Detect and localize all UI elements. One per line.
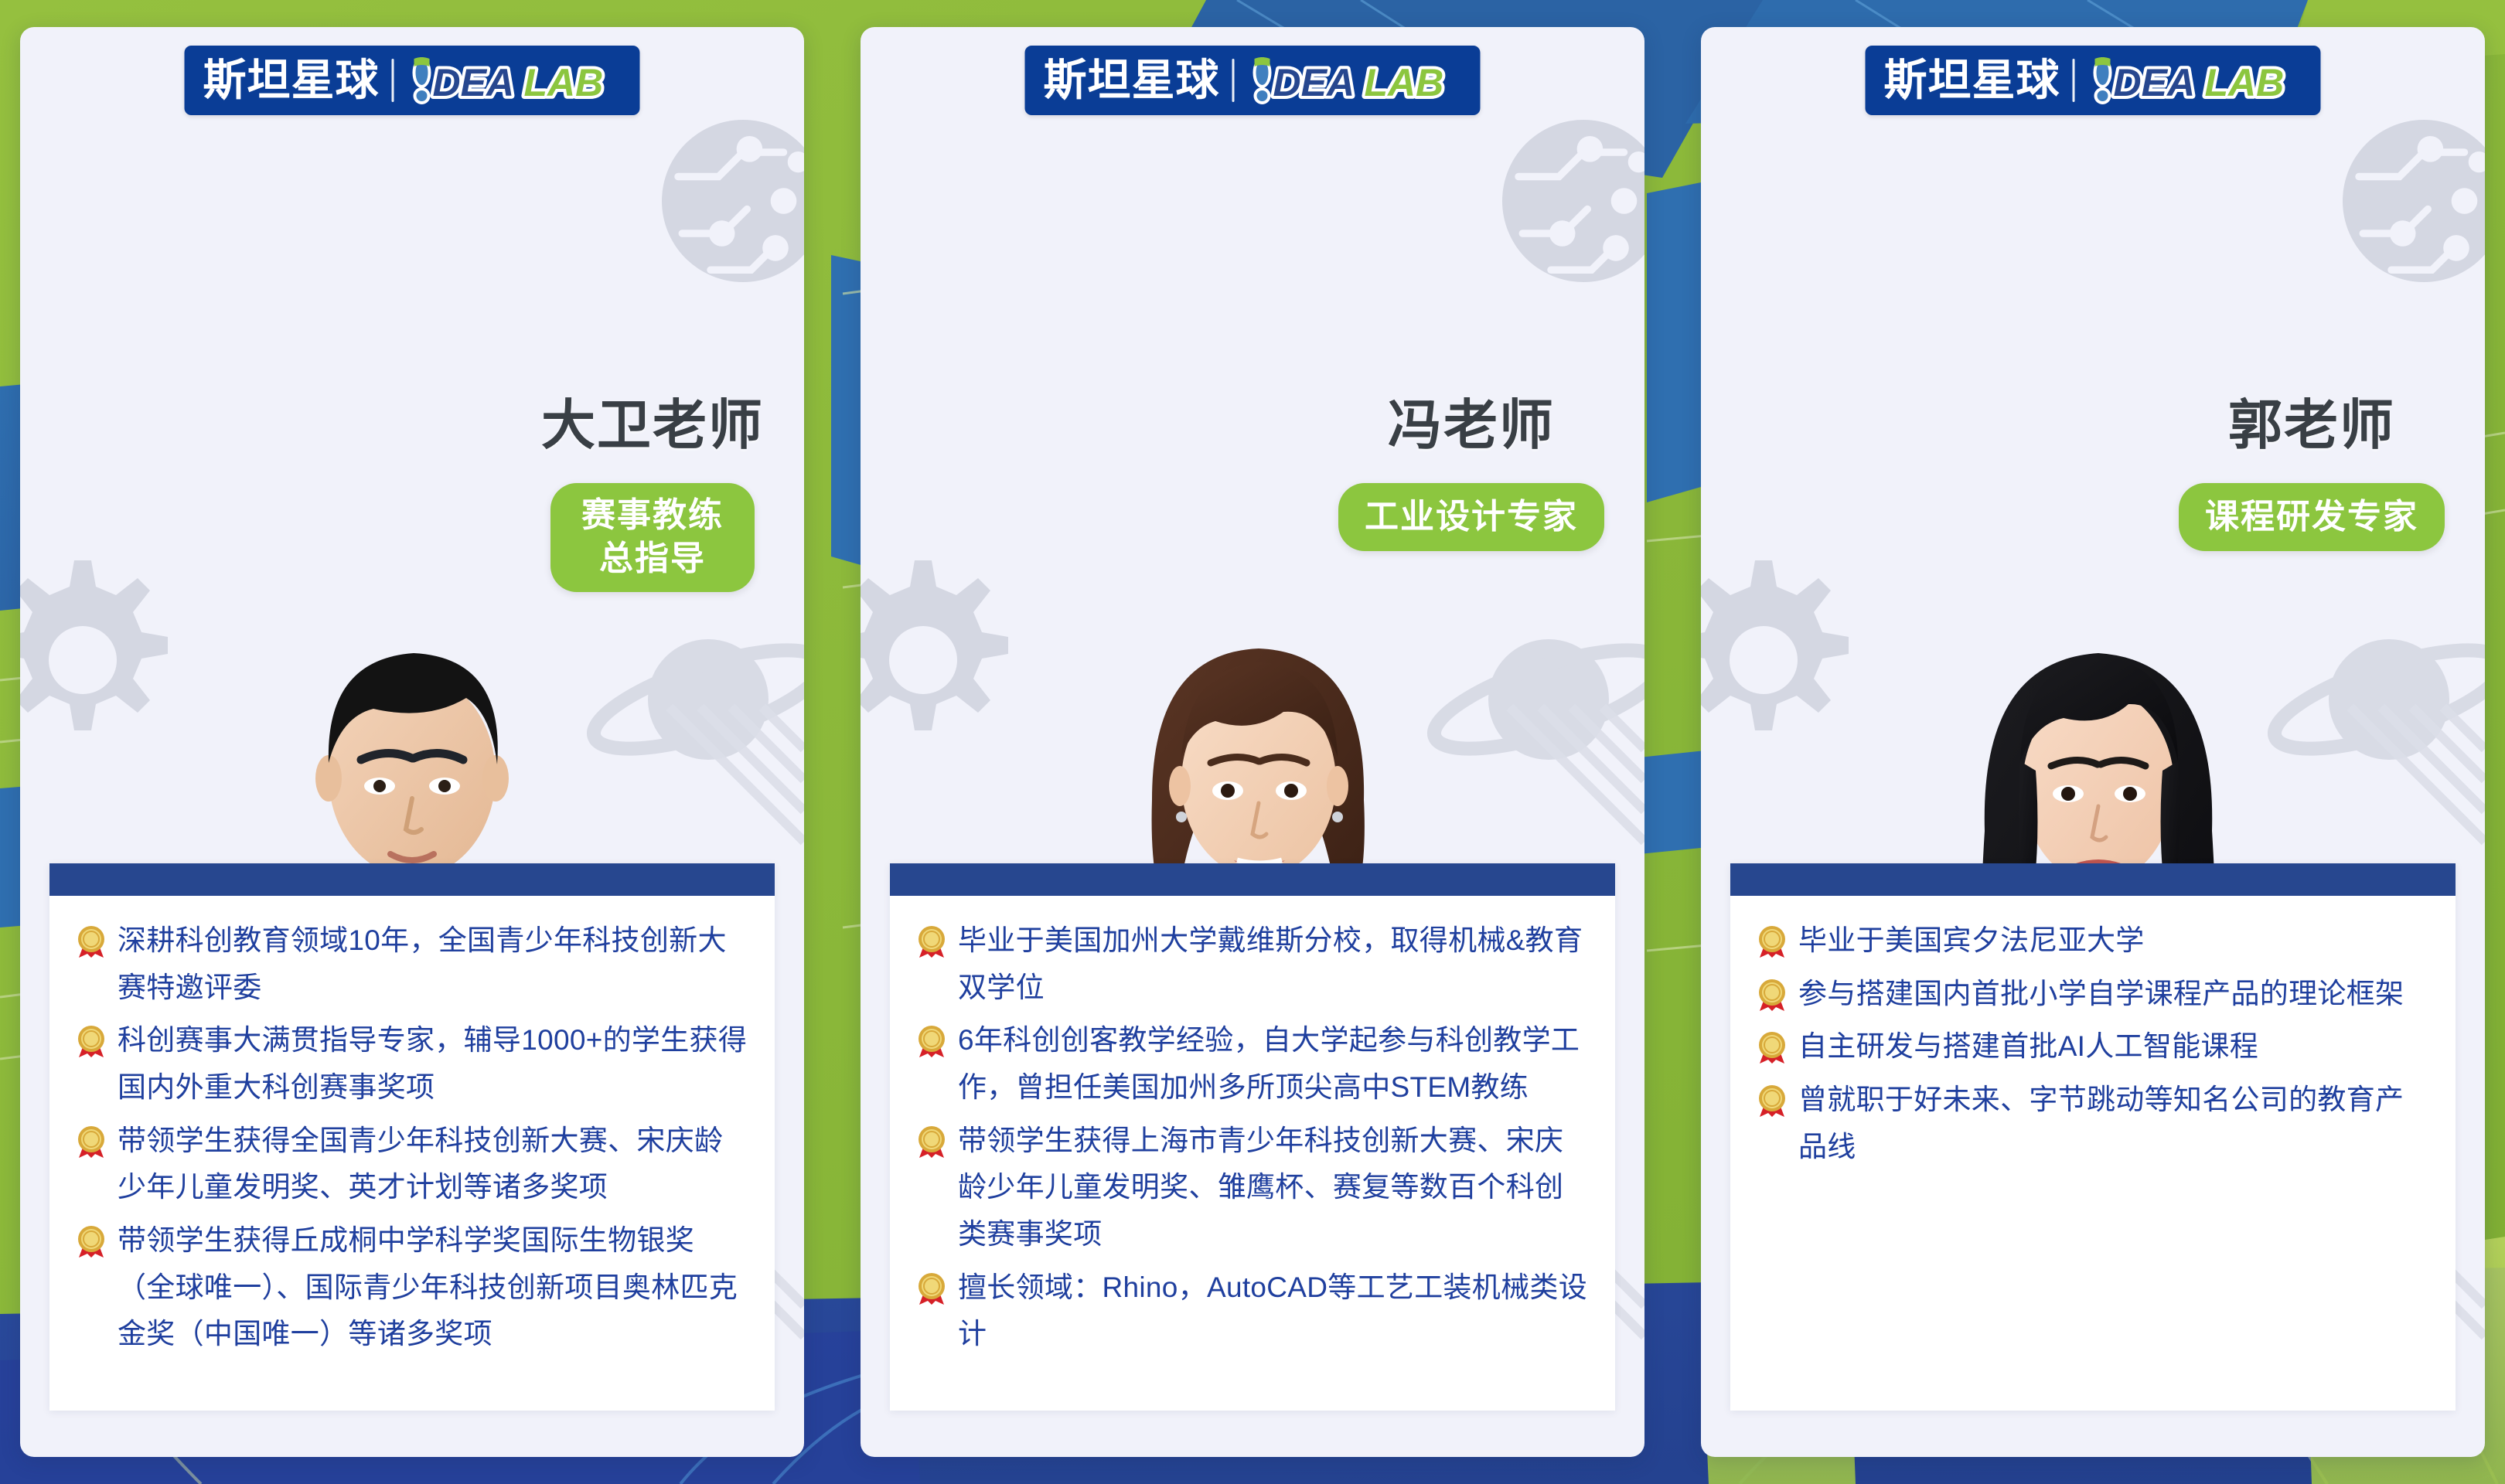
bullet-text: 参与搭建国内首批小学自学课程产品的理论框架 — [1798, 971, 2429, 1018]
teacher-card-1[interactable]: 斯坦星球 DEA DEA LAB LAB — [20, 27, 804, 1457]
medal-icon — [913, 922, 950, 959]
list-item: 自主研发与搭建首批AI人工智能课程 — [1753, 1023, 2429, 1070]
idealab-wordmark: DEA DEA LAB LAB — [407, 56, 623, 105]
info-panel-header-bar — [890, 863, 1615, 896]
list-item: 曾就职于好未来、字节跳动等知名公司的教育产品线 — [1753, 1077, 2429, 1170]
bullet-text: 毕业于美国宾夕法尼亚大学 — [1798, 917, 2429, 965]
logo-divider — [392, 59, 394, 102]
brand-logo-chinese: 斯坦星球 — [203, 59, 380, 102]
idealab-logo-icon: DEA DEA LAB LAB — [407, 56, 623, 105]
logo-divider — [1232, 59, 1235, 102]
medal-icon — [913, 1122, 950, 1159]
brand-logo: 斯坦星球 DEA DEA LAB LAB — [1025, 46, 1481, 115]
list-item: 科创赛事大满贯指导专家，辅导1000+的学生获得国内外重大科创赛事奖项 — [73, 1017, 748, 1111]
bullet-text: 自主研发与搭建首批AI人工智能课程 — [1798, 1023, 2429, 1070]
svg-text:LAB: LAB — [1365, 61, 1444, 104]
list-item: 毕业于美国加州大学戴维斯分校，取得机械&教育双学位 — [913, 917, 1589, 1011]
brand-logo-chinese: 斯坦星球 — [1884, 59, 2060, 102]
medal-icon — [1753, 975, 1791, 1013]
teacher-info-panel-2: 毕业于美国加州大学戴维斯分校，取得机械&教育双学位 6年科创创客教学经验，自大学… — [890, 863, 1615, 1411]
svg-text:DEA: DEA — [2114, 61, 2196, 104]
svg-text:DEA: DEA — [433, 61, 515, 104]
teacher-info-panel-1: 深耕科创教育领域10年，全国青少年科技创新大赛特邀评委 科创赛事大满贯指导专家，… — [49, 863, 775, 1411]
info-panel-header-bar — [1730, 863, 2456, 896]
circuit-circle-icon — [662, 120, 804, 282]
medal-icon — [913, 1022, 950, 1059]
logo-divider — [2073, 59, 2075, 102]
medal-icon — [913, 1269, 950, 1306]
gear-icon — [861, 560, 1008, 730]
svg-text:DEA: DEA — [1273, 61, 1355, 104]
teacher-cards-row: 斯坦星球 DEA DEA LAB LAB — [0, 0, 2505, 1484]
bullet-text: 带领学生获得上海市青少年科技创新大赛、宋庆龄少年儿童发明奖、雏鹰杯、赛复等数百个… — [958, 1118, 1589, 1258]
brand-logo: 斯坦星球 DEA DEA LAB LAB — [1866, 46, 2321, 115]
bullet-text: 科创赛事大满贯指导专家，辅导1000+的学生获得国内外重大科创赛事奖项 — [118, 1017, 748, 1111]
teacher-role-badge: 工业设计专家 — [1338, 483, 1604, 551]
medal-icon — [73, 1222, 110, 1259]
medal-icon — [73, 1022, 110, 1059]
bullet-text: 擅长领域：Rhino，AutoCAD等工艺工装机械类设计 — [958, 1264, 1589, 1358]
brand-logo: 斯坦星球 DEA DEA LAB LAB — [185, 46, 640, 115]
list-item: 深耕科创教育领域10年，全国青少年科技创新大赛特邀评委 — [73, 917, 748, 1011]
teacher-name: 郭老师 — [2179, 398, 2445, 452]
bullet-text: 6年科创创客教学经验，自大学起参与科创教学工作，曾担任美国加州多所顶尖高中STE… — [958, 1017, 1589, 1111]
teacher-bullets-3: 毕业于美国宾夕法尼亚大学 参与搭建国内首批小学自学课程产品的理论框架 自主研发与… — [1730, 896, 2456, 1411]
bullet-text: 深耕科创教育领域10年，全国青少年科技创新大赛特邀评委 — [118, 917, 748, 1011]
bullet-text: 带领学生获得全国青少年科技创新大赛、宋庆龄少年儿童发明奖、英才计划等诸多奖项 — [118, 1118, 748, 1211]
gear-icon — [1701, 560, 1849, 730]
teacher-bullets-2: 毕业于美国加州大学戴维斯分校，取得机械&教育双学位 6年科创创客教学经验，自大学… — [890, 896, 1615, 1411]
bullet-text: 毕业于美国加州大学戴维斯分校，取得机械&教育双学位 — [958, 917, 1589, 1011]
medal-icon — [1753, 1081, 1791, 1118]
medal-icon — [1753, 1028, 1791, 1065]
teacher-name-block-3: 郭老师 课程研发专家 — [2179, 398, 2445, 551]
list-item: 6年科创创客教学经验，自大学起参与科创教学工作，曾担任美国加州多所顶尖高中STE… — [913, 1017, 1589, 1111]
list-item: 参与搭建国内首批小学自学课程产品的理论框架 — [1753, 971, 2429, 1018]
idealab-wordmark: DEA DEA LAB LAB — [1247, 56, 1464, 105]
teacher-role-badge: 赛事教练 总指导 — [550, 483, 755, 592]
teacher-card-2[interactable]: 斯坦星球 DEA DEA LAB LAB — [861, 27, 1644, 1457]
teacher-name-block-1: 大卫老师 赛事教练 总指导 — [541, 398, 764, 592]
list-item: 带领学生获得全国青少年科技创新大赛、宋庆龄少年儿童发明奖、英才计划等诸多奖项 — [73, 1118, 748, 1211]
list-item: 擅长领域：Rhino，AutoCAD等工艺工装机械类设计 — [913, 1264, 1589, 1358]
svg-text:LAB: LAB — [2205, 61, 2285, 104]
medal-icon — [1753, 922, 1791, 959]
bullet-text: 带领学生获得丘成桐中学科学奖国际生物银奖（全球唯一）、国际青少年科技创新项目奥林… — [118, 1217, 748, 1358]
medal-icon — [73, 922, 110, 959]
gear-icon — [20, 560, 168, 730]
info-panel-header-bar — [49, 863, 775, 896]
idealab-logo-icon: DEA DEA LAB LAB — [1247, 56, 1464, 105]
circuit-circle-icon — [2343, 120, 2485, 282]
circuit-circle-icon — [1502, 120, 1644, 282]
teacher-bullets-1: 深耕科创教育领域10年，全国青少年科技创新大赛特邀评委 科创赛事大满贯指导专家，… — [49, 896, 775, 1411]
idealab-wordmark: DEA DEA LAB LAB — [2087, 56, 2304, 105]
teacher-name-block-2: 冯老师 工业设计专家 — [1338, 398, 1604, 551]
list-item: 带领学生获得上海市青少年科技创新大赛、宋庆龄少年儿童发明奖、雏鹰杯、赛复等数百个… — [913, 1118, 1589, 1258]
teacher-card-3[interactable]: 斯坦星球 DEA DEA LAB LAB — [1701, 27, 2485, 1457]
list-item: 带领学生获得丘成桐中学科学奖国际生物银奖（全球唯一）、国际青少年科技创新项目奥林… — [73, 1217, 748, 1358]
brand-logo-chinese: 斯坦星球 — [1044, 59, 1220, 102]
teacher-name: 大卫老师 — [541, 398, 764, 452]
teacher-role-badge: 课程研发专家 — [2179, 483, 2445, 551]
idealab-logo-icon: DEA DEA LAB LAB — [2087, 56, 2304, 105]
teacher-info-panel-3: 毕业于美国宾夕法尼亚大学 参与搭建国内首批小学自学课程产品的理论框架 自主研发与… — [1730, 863, 2456, 1411]
svg-text:LAB: LAB — [524, 61, 604, 104]
teacher-name: 冯老师 — [1338, 398, 1604, 452]
bullet-text: 曾就职于好未来、字节跳动等知名公司的教育产品线 — [1798, 1077, 2429, 1170]
list-item: 毕业于美国宾夕法尼亚大学 — [1753, 917, 2429, 965]
medal-icon — [73, 1122, 110, 1159]
